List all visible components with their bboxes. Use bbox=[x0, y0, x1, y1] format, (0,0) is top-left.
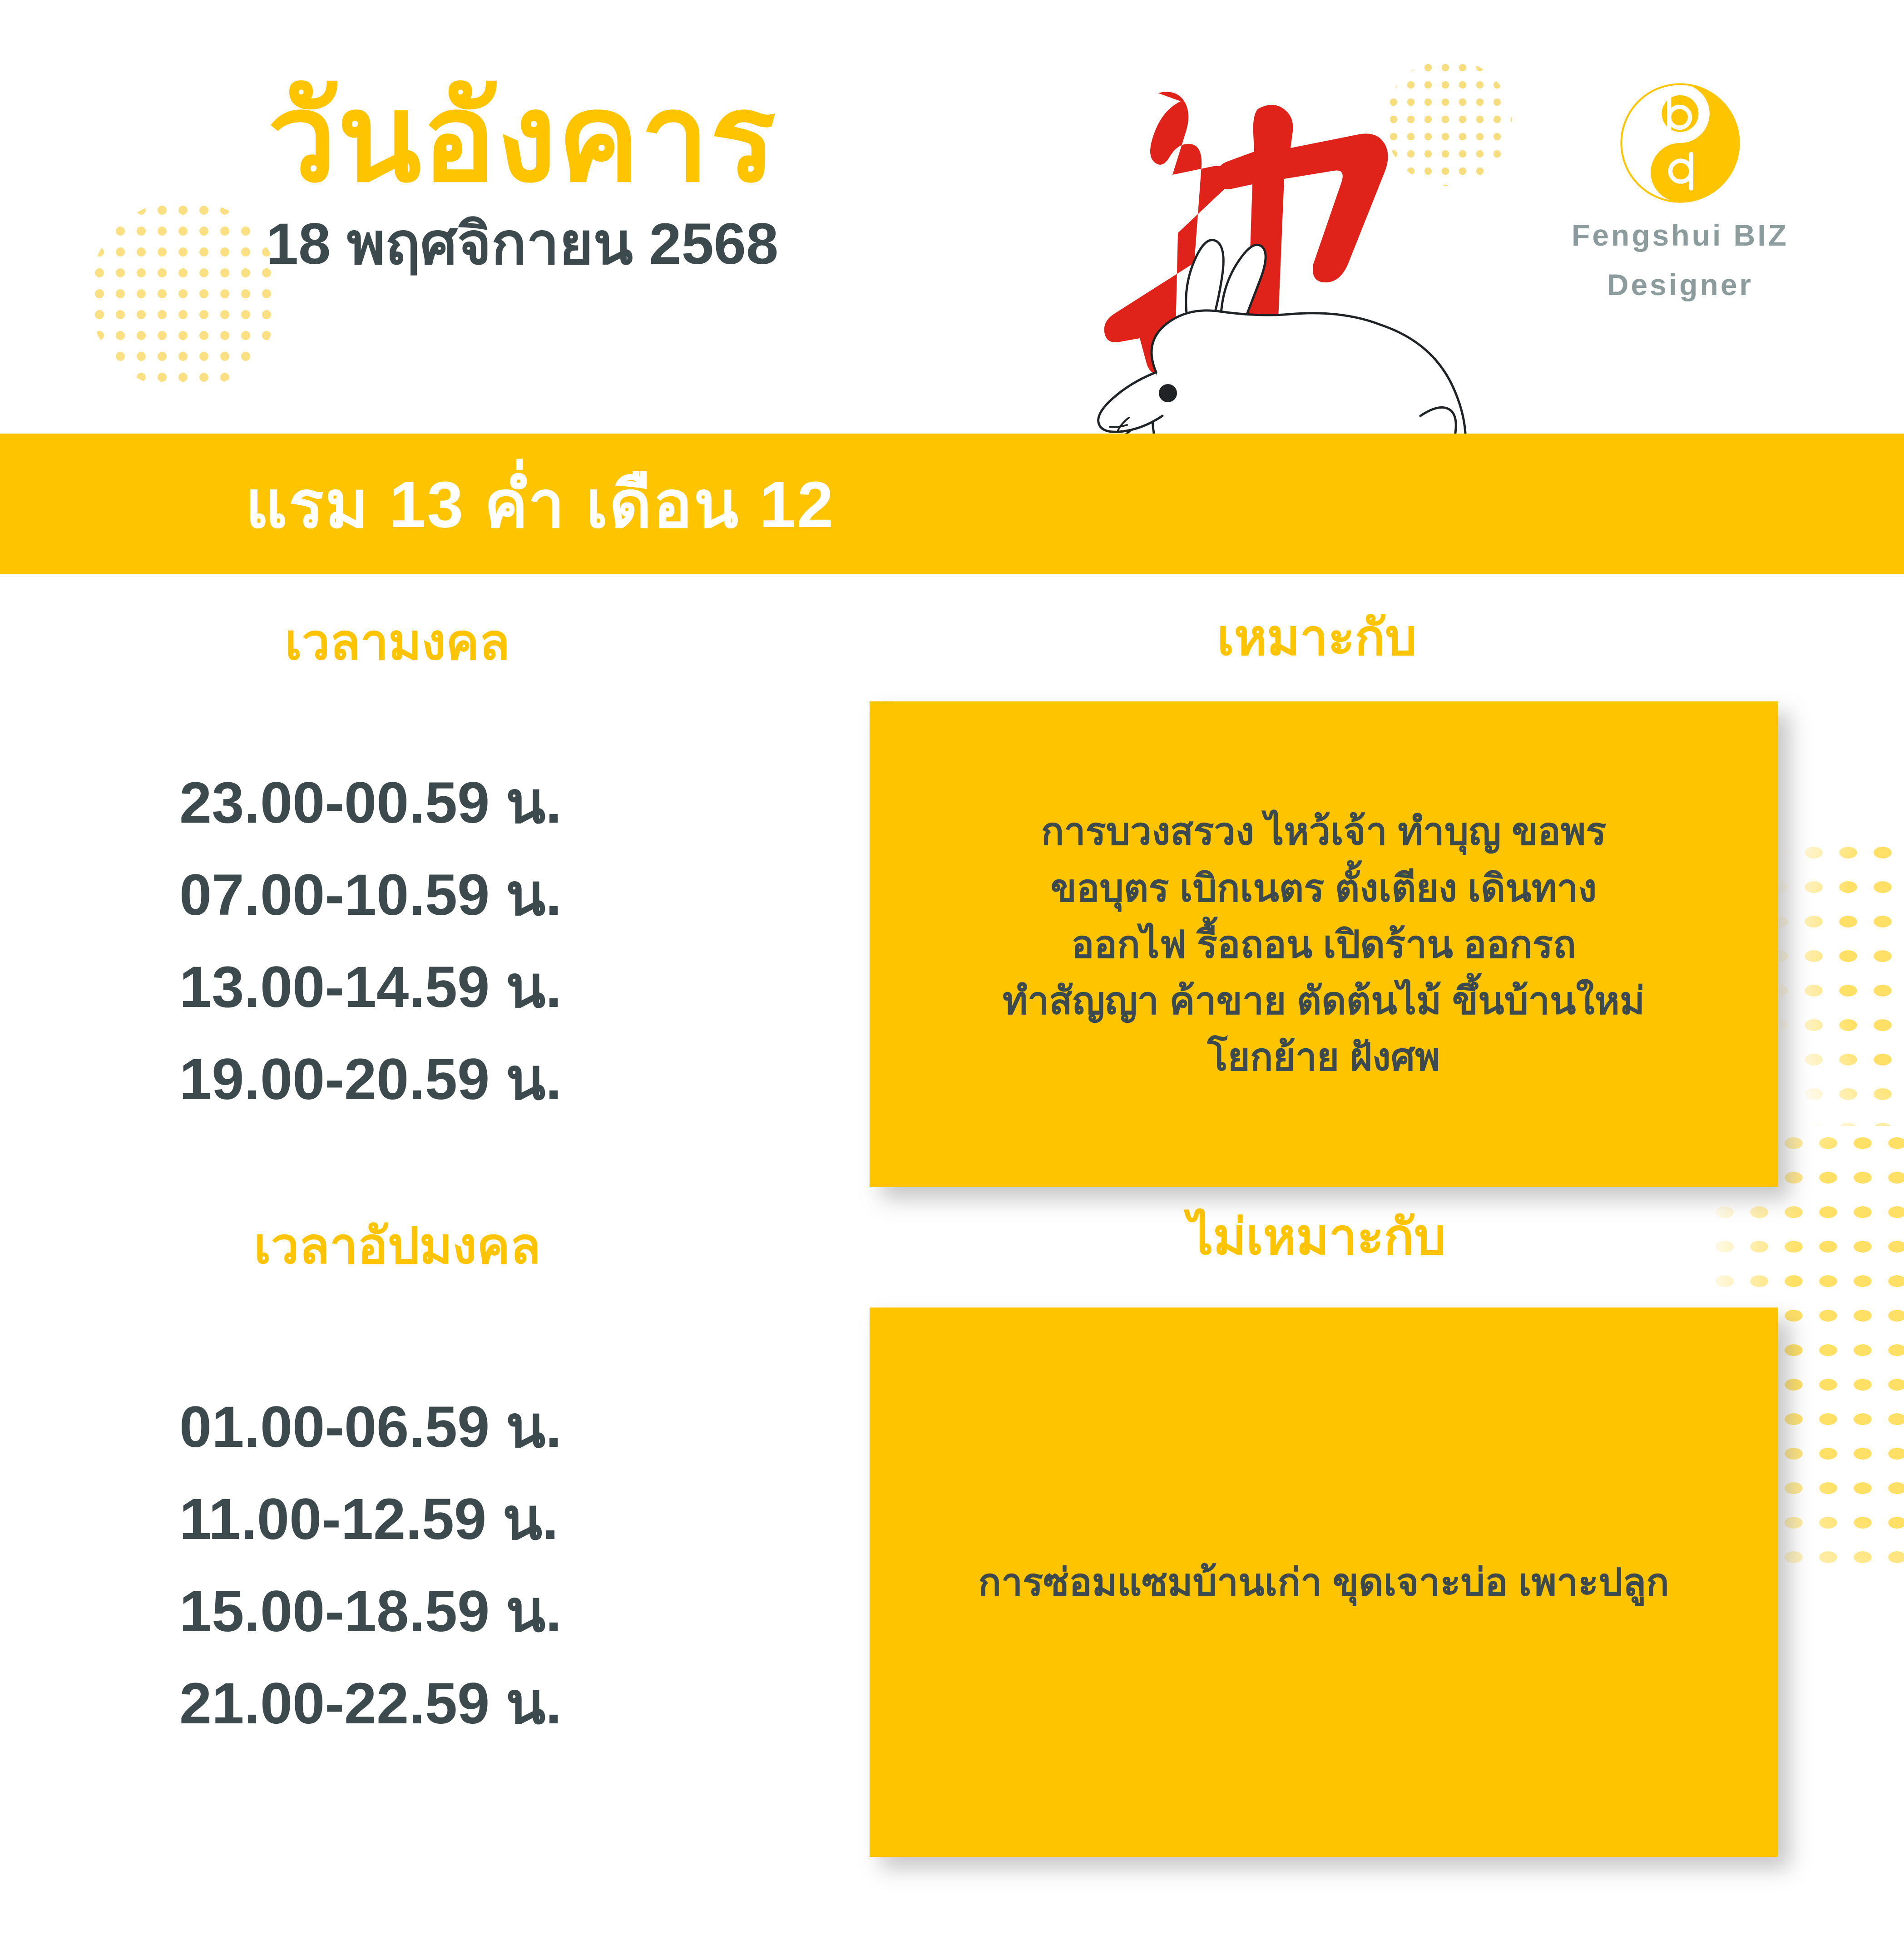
list-item: 15.00-18.59 น. bbox=[179, 1583, 770, 1641]
list-item: 07.00-10.59 น. bbox=[179, 866, 770, 924]
page-title: วันอังคาร bbox=[136, 77, 908, 200]
brand-name-line2: Designer bbox=[1553, 266, 1807, 303]
unlucky-time-list: 01.00-06.59 น. 11.00-12.59 น. 15.00-18.5… bbox=[179, 1398, 770, 1767]
lunar-date-text: แรม 13 ค่ำ เดือน 12 bbox=[245, 472, 835, 538]
list-item: ทำสัญญา ค้าขาย ตัดต้นไม้ ขึ้นบ้านใหม่ bbox=[1003, 972, 1645, 1029]
list-item: การซ่อมแซมบ้านเก่า ขุดเจาะบ่อ เพาะปลูก bbox=[978, 1554, 1669, 1610]
brand-logo: Fengshui BIZ Designer bbox=[1553, 82, 1807, 303]
list-item: 13.00-14.59 น. bbox=[179, 958, 770, 1016]
suitable-activities-card: การบวงสรวง ไหว้เจ้า ทำบุญ ขอพร ขอบุตร เบ… bbox=[870, 701, 1778, 1187]
list-item: การบวงสรวง ไหว้เจ้า ทำบุญ ขอพร bbox=[1003, 803, 1645, 859]
list-item: 01.00-06.59 น. bbox=[179, 1398, 770, 1456]
heading-unsuitable-for: ไม่เหมาะกับ bbox=[1090, 1212, 1544, 1262]
list-item: 21.00-22.59 น. bbox=[179, 1675, 770, 1733]
unsuitable-activities-card: การซ่อมแซมบ้านเก่า ขุดเจาะบ่อ เพาะปลูก bbox=[870, 1307, 1778, 1857]
heading-unlucky-time: เวลาอัปมงคล bbox=[136, 1221, 658, 1271]
yin-yang-bd-logo-icon bbox=[1619, 82, 1741, 204]
heading-lucky-time: เวลามงคล bbox=[136, 617, 658, 667]
list-item: ออกไฟ รื้อถอน เปิดร้าน ออกรถ bbox=[1003, 916, 1645, 972]
zodiac-svg bbox=[1022, 59, 1476, 481]
zodiac-illustration bbox=[1022, 59, 1476, 481]
suitable-activities-list: การบวงสรวง ไหว้เจ้า ทำบุญ ขอพร ขอบุตร เบ… bbox=[975, 803, 1672, 1085]
list-item: 11.00-12.59 น. bbox=[179, 1490, 770, 1549]
header-title-block: วันอังคาร 18 พฤศจิกายน 2568 bbox=[136, 77, 908, 273]
date-subtitle: 18 พฤศจิกายน 2568 bbox=[136, 215, 908, 273]
brand-name-line1: Fengshui BIZ bbox=[1553, 217, 1807, 254]
list-item: โยกย้าย ฝังศพ bbox=[1003, 1029, 1645, 1085]
poster-canvas: วันอังคาร 18 พฤศจิกายน 2568 bbox=[0, 0, 1904, 1939]
list-item: ขอบุตร เบิกเนตร ตั้งเตียง เดินทาง bbox=[1003, 860, 1645, 916]
list-item: 19.00-20.59 น. bbox=[179, 1051, 770, 1109]
unsuitable-activities-list: การซ่อมแซมบ้านเก่า ขุดเจาะบ่อ เพาะปลูก bbox=[951, 1554, 1696, 1610]
lucky-time-list: 23.00-00.59 น. 07.00-10.59 น. 13.00-14.5… bbox=[179, 774, 770, 1143]
heading-suitable-for: เหมาะกับ bbox=[1090, 613, 1544, 663]
dot-field-right-upper-icon bbox=[1762, 835, 1904, 1126]
list-item: 23.00-00.59 น. bbox=[179, 774, 770, 832]
